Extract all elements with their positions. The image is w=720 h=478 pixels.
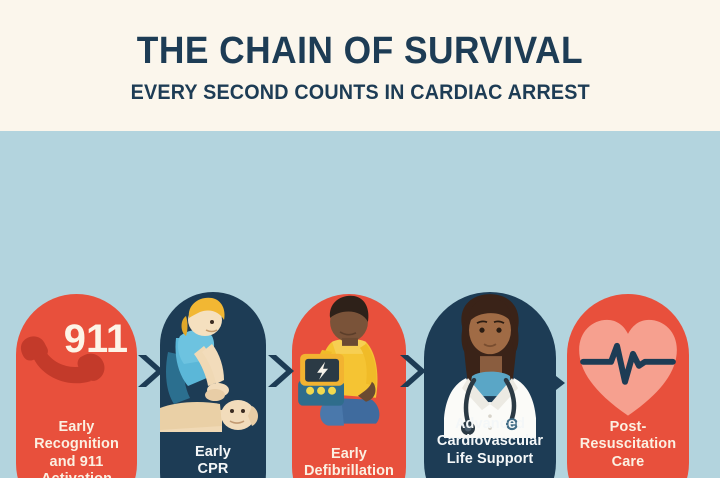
aed-defibrillator-icon	[298, 296, 379, 426]
chain-step-label: Early CPR	[164, 444, 262, 478]
chain-step-advanced-life-support[interactable]: Advanced Cardiovascular Life Support	[424, 292, 556, 478]
label-line: CPR	[164, 461, 262, 478]
phone-handset-artwork: 911	[16, 294, 137, 437]
cpr-illustration-icon	[160, 298, 258, 432]
label-line: Early	[296, 446, 402, 463]
chain-step-early-cpr[interactable]: Early CPR	[160, 292, 266, 478]
label-line: Post-	[571, 419, 685, 436]
chain-step-label: Early Defibrillation	[296, 446, 402, 478]
emergency-number-badge: 911	[64, 317, 128, 361]
label-line: Activation	[20, 471, 133, 478]
chain-step-early-defibrillation[interactable]: Early Defibrillation	[292, 294, 406, 478]
chain-step-early-recognition[interactable]: 911 Early Recognition and 911 Activation	[16, 294, 137, 478]
label-line: and 911	[20, 454, 133, 471]
arrow-right-icon-1	[134, 353, 164, 389]
label-line: Care	[571, 454, 685, 471]
label-line: Cardiovascular	[428, 433, 552, 450]
aed-defibrillator-artwork	[292, 294, 406, 437]
page-title: THE CHAIN OF SURVIVAL	[137, 32, 583, 72]
label-line: Early	[164, 444, 262, 461]
label-line: Recognition	[20, 436, 133, 453]
label-line: Defibrillation	[296, 463, 402, 478]
chain-of-survival-diagram: 911 Early Recognition and 911 Activation	[0, 131, 720, 478]
chain-step-label: Early Recognition and 911 Activation	[20, 419, 133, 478]
label-line: Resuscitation	[571, 436, 685, 453]
header-banner: THE CHAIN OF SURVIVAL EVERY SECOND COUNT…	[0, 0, 720, 131]
arrow-right-icon-4	[545, 365, 575, 401]
arrow-right-icon-2	[264, 353, 294, 389]
heart-ecg-artwork	[567, 294, 689, 437]
label-line: Early	[20, 419, 133, 436]
cpr-compressions-artwork	[160, 292, 266, 437]
chain-step-post-resuscitation-care[interactable]: Post- Resuscitation Care	[567, 294, 689, 478]
heart-ecg-icon	[579, 320, 677, 416]
page-subtitle: EVERY SECOND COUNTS IN CARDIAC ARREST	[130, 81, 589, 105]
arrow-right-icon-3	[396, 353, 426, 389]
label-line: Advanced	[428, 416, 552, 433]
chain-step-label: Advanced Cardiovascular Life Support	[428, 416, 552, 468]
chain-step-label: Post- Resuscitation Care	[571, 419, 685, 471]
label-line: Life Support	[428, 451, 552, 468]
